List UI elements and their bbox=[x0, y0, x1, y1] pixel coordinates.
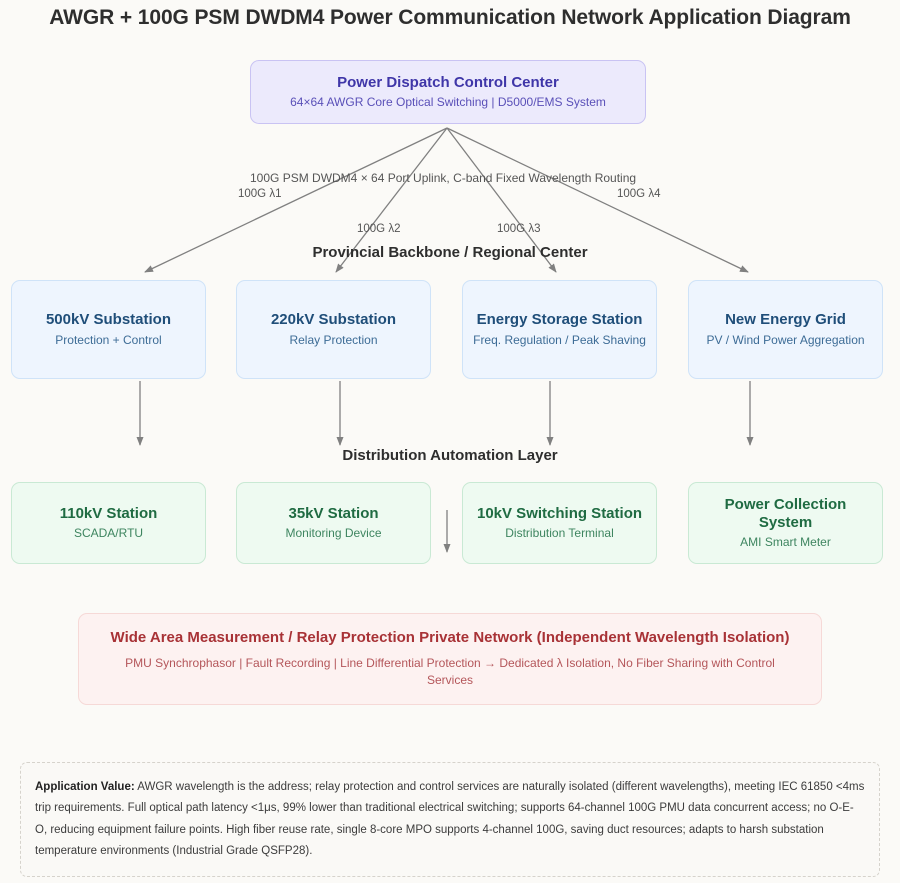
tier-label-provincial-backbone: Provincial Backbone / Regional Center bbox=[0, 244, 900, 261]
node-energy-storage-station[interactable]: Energy Storage Station Freq. Regulation … bbox=[462, 280, 657, 379]
edge-label-lambda2: 100G λ2 bbox=[357, 223, 400, 235]
footer-application-value: Application Value: AWGR wavelength is th… bbox=[20, 762, 880, 877]
node-title: 220kV Substation bbox=[271, 311, 396, 329]
edge-label-lambda3: 100G λ3 bbox=[497, 223, 540, 235]
node-subtitle: 64×64 AWGR Core Optical Switching | D500… bbox=[290, 95, 606, 110]
panel-private-network: Wide Area Measurement / Relay Protection… bbox=[78, 613, 822, 705]
node-title: Power Dispatch Control Center bbox=[337, 74, 559, 92]
edge-label-lambda1: 100G λ1 bbox=[238, 188, 281, 200]
diagram-page: AWGR + 100G PSM DWDM4 Power Communicatio… bbox=[0, 0, 900, 883]
node-subtitle: Protection + Control bbox=[55, 333, 161, 348]
node-title: 110kV Station bbox=[60, 505, 158, 523]
node-title: New Energy Grid bbox=[725, 311, 846, 329]
node-subtitle: SCADA/RTU bbox=[74, 526, 143, 541]
node-power-collection-system[interactable]: Power Collection System AMI Smart Meter bbox=[688, 482, 883, 564]
node-subtitle: PV / Wind Power Aggregation bbox=[706, 333, 864, 348]
node-subtitle: Distribution Terminal bbox=[505, 526, 614, 541]
tier-label-distribution-automation: Distribution Automation Layer bbox=[0, 447, 900, 464]
node-title: 500kV Substation bbox=[46, 311, 171, 329]
panel-title: Wide Area Measurement / Relay Protection… bbox=[107, 628, 793, 648]
node-title: Power Collection System bbox=[699, 496, 872, 533]
node-subtitle: Monitoring Device bbox=[285, 526, 381, 541]
node-110kv-station[interactable]: 110kV Station SCADA/RTU bbox=[11, 482, 206, 564]
node-subtitle: AMI Smart Meter bbox=[740, 535, 831, 550]
node-220kv-substation[interactable]: 220kV Substation Relay Protection bbox=[236, 280, 431, 379]
edge-label-lambda4: 100G λ4 bbox=[617, 188, 660, 200]
footer-text: AWGR wavelength is the address; relay pr… bbox=[35, 781, 864, 857]
node-10kv-switching-station[interactable]: 10kV Switching Station Distribution Term… bbox=[462, 482, 657, 564]
node-subtitle: Relay Protection bbox=[289, 333, 377, 348]
node-title: 35kV Station bbox=[288, 505, 378, 523]
page-title: AWGR + 100G PSM DWDM4 Power Communicatio… bbox=[0, 6, 900, 30]
node-title: 10kV Switching Station bbox=[477, 505, 642, 523]
panel-subtitle: PMU Synchrophasor | Fault Recording | Li… bbox=[107, 655, 793, 688]
node-500kv-substation[interactable]: 500kV Substation Protection + Control bbox=[11, 280, 206, 379]
connector-layer bbox=[0, 0, 900, 883]
node-power-dispatch-control-center[interactable]: Power Dispatch Control Center 64×64 AWGR… bbox=[250, 60, 646, 124]
node-title: Energy Storage Station bbox=[477, 311, 643, 329]
edge-label-uplink: 100G PSM DWDM4 × 64 Port Uplink, C-band … bbox=[250, 171, 636, 185]
footer-label: Application Value: bbox=[35, 781, 135, 793]
node-subtitle: Freq. Regulation / Peak Shaving bbox=[473, 333, 646, 348]
node-new-energy-grid[interactable]: New Energy Grid PV / Wind Power Aggregat… bbox=[688, 280, 883, 379]
node-35kv-station[interactable]: 35kV Station Monitoring Device bbox=[236, 482, 431, 564]
